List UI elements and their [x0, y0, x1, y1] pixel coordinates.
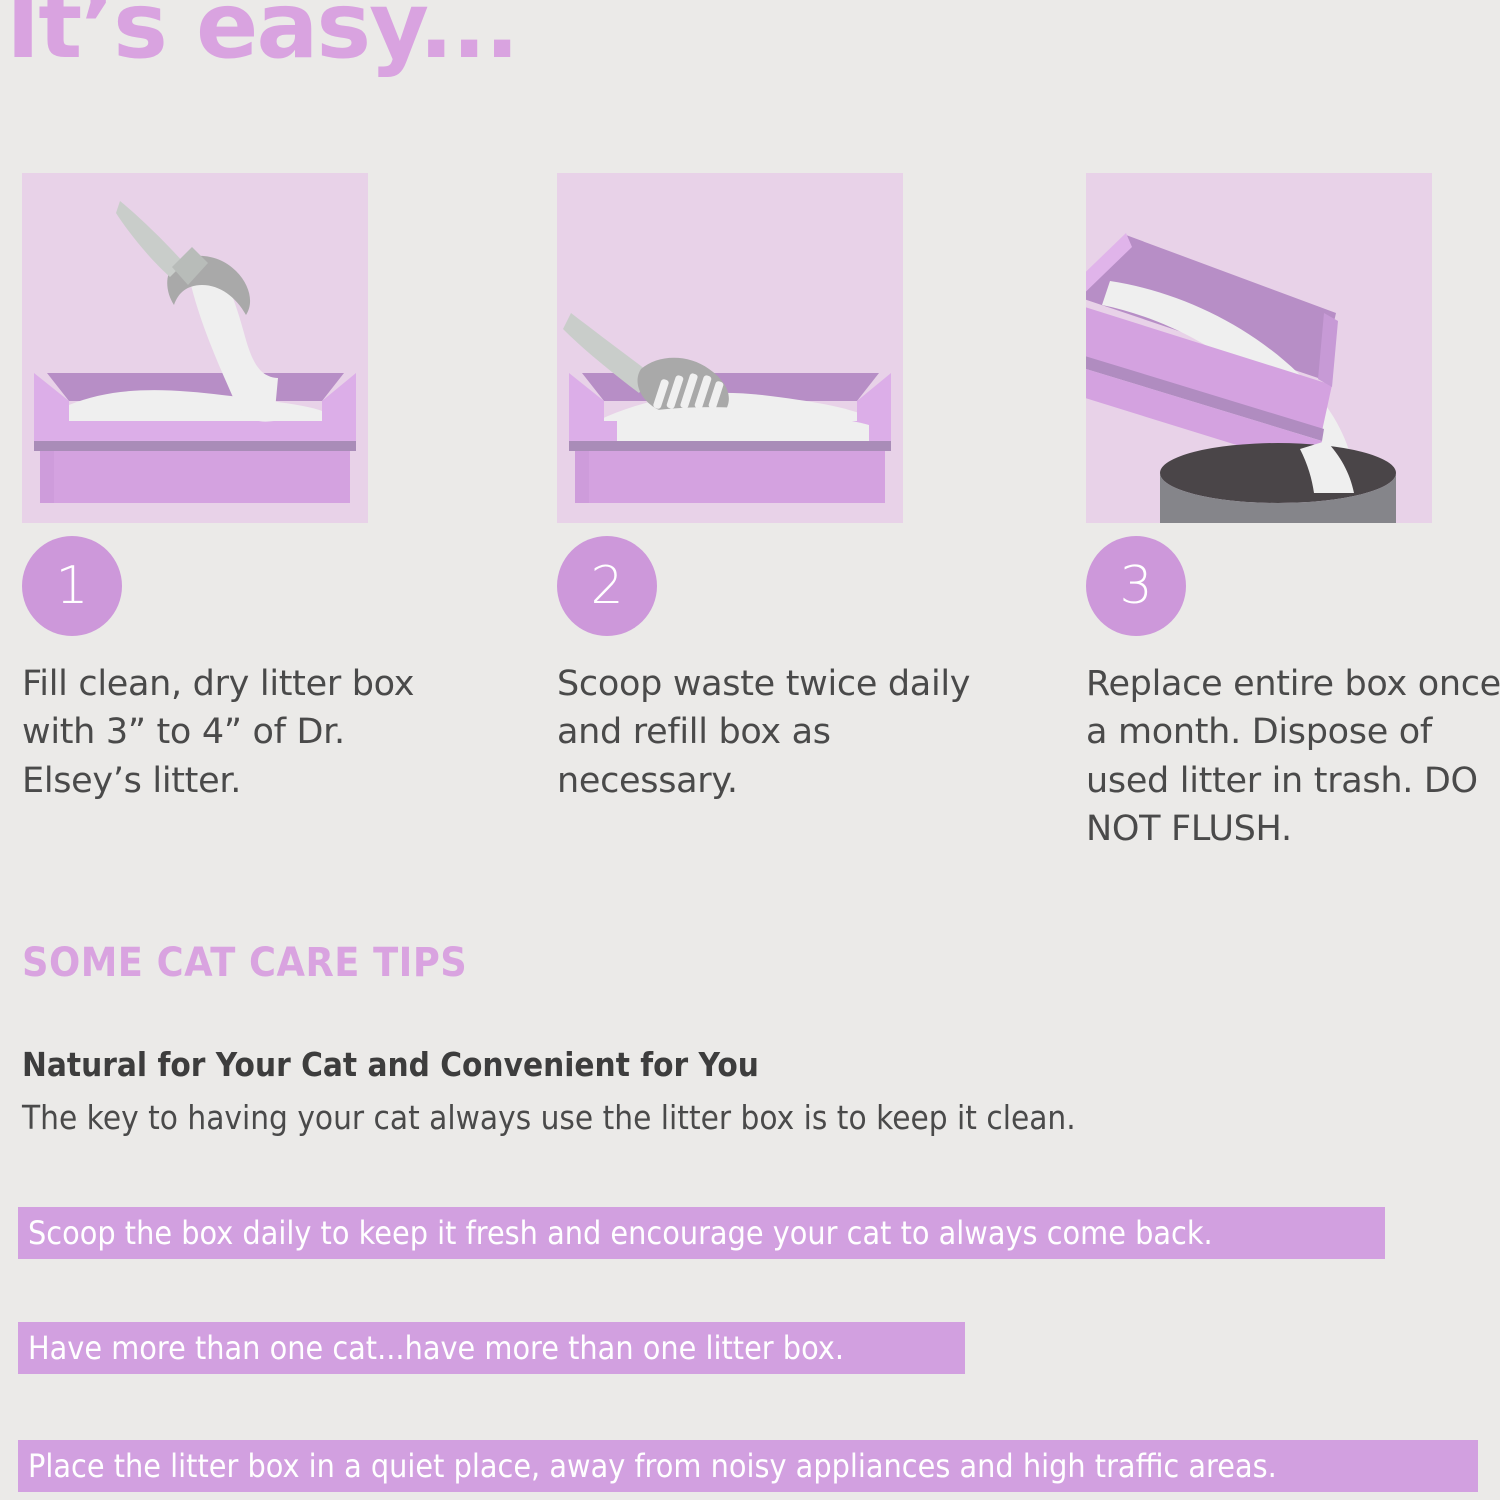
step-3-text: Replace entire box once a month. Dispose… [1086, 660, 1500, 853]
step-2-badge: 2 [557, 536, 657, 636]
litter-pouring-icon [22, 173, 368, 523]
tip-bar-2: Have more than one cat...have more than … [18, 1322, 965, 1374]
scoop-raking-icon [557, 173, 903, 523]
tip-bar-3: Place the litter box in a quiet place, a… [18, 1440, 1478, 1492]
box-emptying-into-trash-icon [1086, 173, 1432, 523]
step-2-text: Scoop waste twice daily and refill box a… [557, 660, 987, 805]
step-1-badge: 1 [22, 536, 122, 636]
tips-body-text: The key to having your cat always use th… [22, 1098, 1076, 1137]
tip-bar-1-text: Scoop the box daily to keep it fresh and… [28, 1214, 1213, 1252]
step-2-illustration [557, 173, 903, 523]
tip-bar-2-text: Have more than one cat...have more than … [28, 1329, 844, 1367]
step-3: 3 Replace entire box once a month. Dispo… [1086, 173, 1442, 853]
step-1: 1 Fill clean, dry litter box with 3” to … [22, 173, 378, 805]
tip-bar-3-text: Place the litter box in a quiet place, a… [28, 1447, 1277, 1485]
step-1-illustration [22, 173, 368, 523]
tips-section-heading: SOME CAT CARE TIPS [22, 940, 467, 986]
tip-bar-1: Scoop the box daily to keep it fresh and… [18, 1207, 1385, 1259]
step-2: 2 Scoop waste twice daily and refill box… [557, 173, 913, 805]
step-3-illustration [1086, 173, 1432, 523]
step-3-badge: 3 [1086, 536, 1186, 636]
step-1-text: Fill clean, dry litter box with 3” to 4”… [22, 660, 452, 805]
tips-subheading: Natural for Your Cat and Convenient for … [22, 1045, 759, 1084]
steps-row: 1 Fill clean, dry litter box with 3” to … [0, 173, 1500, 893]
page-title: It’s easy... [6, 0, 518, 75]
